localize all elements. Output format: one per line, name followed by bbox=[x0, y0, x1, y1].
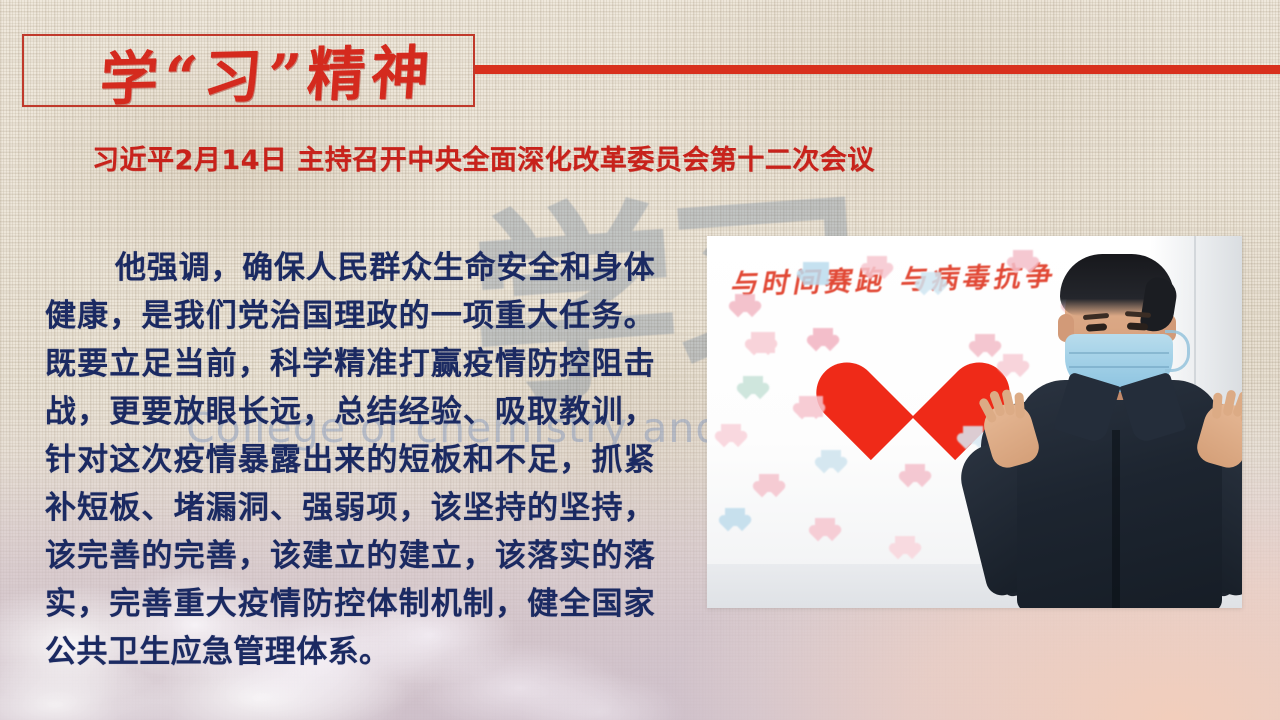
photo-figure: 与时间赛跑 与病毒抗争 bbox=[707, 236, 1242, 608]
finger bbox=[1014, 392, 1025, 419]
person-figure bbox=[965, 252, 1242, 608]
mask-fold bbox=[1069, 352, 1169, 354]
sticker-heart-icon bbox=[743, 376, 763, 394]
sticker-heart-icon bbox=[813, 328, 833, 346]
sticker-heart-icon bbox=[759, 474, 779, 492]
sticker-heart-icon bbox=[721, 424, 741, 442]
sticker-heart-icon bbox=[895, 536, 915, 554]
banner-title: 学“习”精神 bbox=[55, 20, 482, 123]
sticker-heart-icon bbox=[921, 272, 941, 290]
jacket-placket bbox=[1112, 430, 1120, 608]
sticker-heart-icon bbox=[803, 262, 829, 285]
red-heart-icon bbox=[853, 322, 971, 428]
red-accent-bar bbox=[475, 65, 1280, 74]
sticker-heart-icon bbox=[735, 294, 755, 312]
mask-ear-loop bbox=[1165, 330, 1190, 372]
body-paragraph: 他强调，确保人民群众生命安全和身体健康，是我们党治国理政的一项重大任务。既要立足… bbox=[45, 244, 655, 676]
sticker-heart-icon bbox=[905, 464, 925, 482]
sticker-heart-icon bbox=[751, 332, 775, 353]
sticker-heart-icon bbox=[867, 256, 887, 274]
sticker-heart-icon bbox=[815, 518, 835, 536]
sticker-heart-icon bbox=[725, 508, 745, 526]
mask-fold bbox=[1069, 366, 1169, 368]
sticker-heart-icon bbox=[821, 450, 841, 468]
left-eye bbox=[1086, 323, 1107, 331]
slide-subtitle: 习近平2月14日 主持召开中央全面深化改革委员会第十二次会议 bbox=[92, 138, 875, 177]
finger bbox=[1212, 392, 1223, 419]
sticker-heart-icon bbox=[799, 396, 823, 417]
slide-canvas: 学习 College of chemistry and 学“习”精神 习近平2月… bbox=[0, 0, 1280, 720]
right-eye bbox=[1127, 322, 1148, 330]
